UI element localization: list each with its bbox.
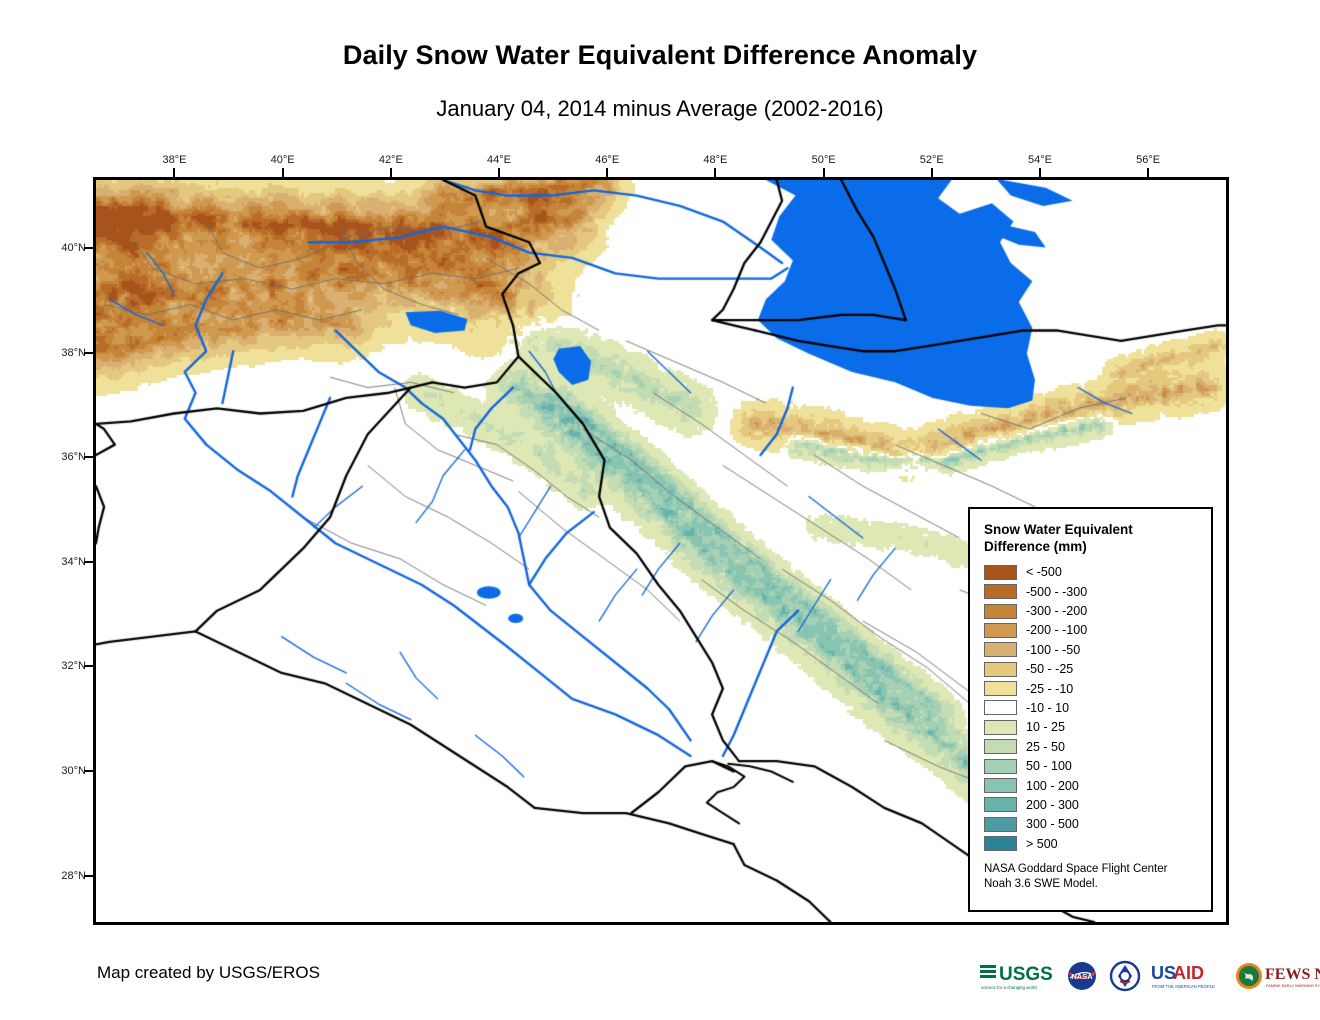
lon-tick-mark	[498, 168, 500, 177]
legend-class-list: < -500-500 - -300-300 - -200-200 - -100-…	[984, 563, 1199, 854]
lat-tick-label: 36°N	[61, 451, 86, 463]
lat-tick-label: 28°N	[61, 870, 86, 882]
svg-text:AID: AID	[1173, 963, 1204, 983]
legend-row: < -500	[984, 563, 1199, 582]
legend-row: 25 - 50	[984, 737, 1199, 756]
legend-row: -100 - -50	[984, 640, 1199, 659]
lon-tick-mark	[931, 168, 933, 177]
lat-tick-mark	[84, 456, 93, 458]
legend-row: > 500	[984, 834, 1199, 853]
lon-tick-label: 56°E	[1136, 154, 1160, 166]
legend-label: > 500	[1026, 837, 1058, 851]
noaa-logo[interactable]	[1108, 958, 1142, 994]
legend-label: 25 - 50	[1026, 740, 1065, 754]
legend-swatch	[984, 623, 1017, 638]
lon-tick-mark	[1039, 168, 1041, 177]
legend-row: -200 - -100	[984, 621, 1199, 640]
svg-text:USGS: USGS	[999, 964, 1053, 985]
legend-swatch	[984, 739, 1017, 754]
legend-swatch	[984, 584, 1017, 599]
legend-panel: Snow Water Equivalent Difference (mm) < …	[968, 507, 1213, 912]
lon-tick-mark	[173, 168, 175, 177]
lon-tick-label: 54°E	[1028, 154, 1052, 166]
legend-row: 100 - 200	[984, 776, 1199, 795]
lat-tick-label: 40°N	[61, 242, 86, 254]
legend-label: 300 - 500	[1026, 817, 1079, 831]
legend-swatch	[984, 604, 1017, 619]
lon-tick-label: 42°E	[379, 154, 403, 166]
page-title: Daily Snow Water Equivalent Difference A…	[0, 40, 1320, 71]
legend-label: -100 - -50	[1026, 643, 1080, 657]
lon-tick-mark	[1147, 168, 1149, 177]
usaid-logo[interactable]: US AID FROM THE AMERICAN PEOPLE	[1151, 958, 1225, 994]
legend-label: 10 - 25	[1026, 720, 1065, 734]
svg-text:NASA: NASA	[1071, 972, 1093, 981]
legend-row: -10 - 10	[984, 698, 1199, 717]
nasa-logo[interactable]: NASA	[1065, 958, 1099, 994]
legend-label: -10 - 10	[1026, 701, 1069, 715]
lat-tick-label: 30°N	[61, 765, 86, 777]
legend-swatch	[984, 817, 1017, 832]
legend-row: -300 - -200	[984, 601, 1199, 620]
legend-row: 50 - 100	[984, 756, 1199, 775]
usgs-logo[interactable]: USGS science for a changing world	[978, 958, 1056, 994]
agency-logo-bar: USGS science for a changing world NASA U…	[978, 955, 1320, 997]
legend-row: 10 - 25	[984, 718, 1199, 737]
svg-text:FROM THE AMERICAN PEOPLE: FROM THE AMERICAN PEOPLE	[1152, 984, 1215, 989]
legend-label: < -500	[1026, 565, 1062, 579]
lon-tick-mark	[606, 168, 608, 177]
lon-tick-mark	[282, 168, 284, 177]
lat-tick-mark	[84, 561, 93, 563]
lat-tick-mark	[84, 665, 93, 667]
legend-label: -200 - -100	[1026, 623, 1087, 637]
page-subtitle: January 04, 2014 minus Average (2002-201…	[0, 96, 1320, 122]
legend-swatch	[984, 759, 1017, 774]
legend-row: -50 - -25	[984, 659, 1199, 678]
legend-row: 200 - 300	[984, 795, 1199, 814]
legend-label: 50 - 100	[1026, 759, 1072, 773]
legend-label: -25 - -10	[1026, 682, 1073, 696]
lon-tick-label: 52°E	[920, 154, 944, 166]
lon-tick-label: 48°E	[703, 154, 727, 166]
legend-label: -50 - -25	[1026, 662, 1073, 676]
lon-tick-label: 44°E	[487, 154, 511, 166]
lat-tick-label: 34°N	[61, 556, 86, 568]
lon-tick-mark	[714, 168, 716, 177]
legend-swatch	[984, 662, 1017, 677]
legend-row: 300 - 500	[984, 815, 1199, 834]
legend-swatch	[984, 778, 1017, 793]
legend-swatch	[984, 642, 1017, 657]
lat-tick-label: 38°N	[61, 347, 86, 359]
svg-text:science for a changing world: science for a changing world	[981, 985, 1037, 990]
lon-tick-label: 40°E	[271, 154, 295, 166]
lat-tick-label: 32°N	[61, 660, 86, 672]
legend-label: -500 - -300	[1026, 585, 1087, 599]
lat-tick-mark	[84, 770, 93, 772]
legend-swatch	[984, 565, 1017, 580]
svg-text:FEWS NET: FEWS NET	[1265, 966, 1320, 983]
legend-swatch	[984, 700, 1017, 715]
map-page: Daily Snow Water Equivalent Difference A…	[0, 0, 1320, 1020]
lat-tick-mark	[84, 352, 93, 354]
lon-tick-label: 50°E	[812, 154, 836, 166]
legend-title: Snow Water Equivalent Difference (mm)	[984, 521, 1199, 556]
map-credit: Map created by USGS/EROS	[97, 963, 320, 983]
lon-tick-label: 38°E	[162, 154, 186, 166]
lon-tick-mark	[390, 168, 392, 177]
legend-row: -500 - -300	[984, 582, 1199, 601]
lon-tick-mark	[823, 168, 825, 177]
legend-label: 100 - 200	[1026, 779, 1079, 793]
svg-text:FAMINE EARLY WARNING SYSTEMS N: FAMINE EARLY WARNING SYSTEMS NETWORK	[1266, 983, 1320, 988]
legend-source-note: NASA Goddard Space Flight Center Noah 3.…	[984, 862, 1199, 892]
lon-tick-label: 46°E	[595, 154, 619, 166]
fewsnet-logo[interactable]: FEWS NET FAMINE EARLY WARNING SYSTEMS NE…	[1234, 958, 1320, 994]
legend-label: -300 - -200	[1026, 604, 1087, 618]
legend-label: 200 - 300	[1026, 798, 1079, 812]
legend-row: -25 - -10	[984, 679, 1199, 698]
lat-tick-mark	[84, 875, 93, 877]
legend-swatch	[984, 797, 1017, 812]
legend-swatch	[984, 681, 1017, 696]
legend-swatch	[984, 836, 1017, 851]
legend-swatch	[984, 720, 1017, 735]
lat-tick-mark	[84, 247, 93, 249]
